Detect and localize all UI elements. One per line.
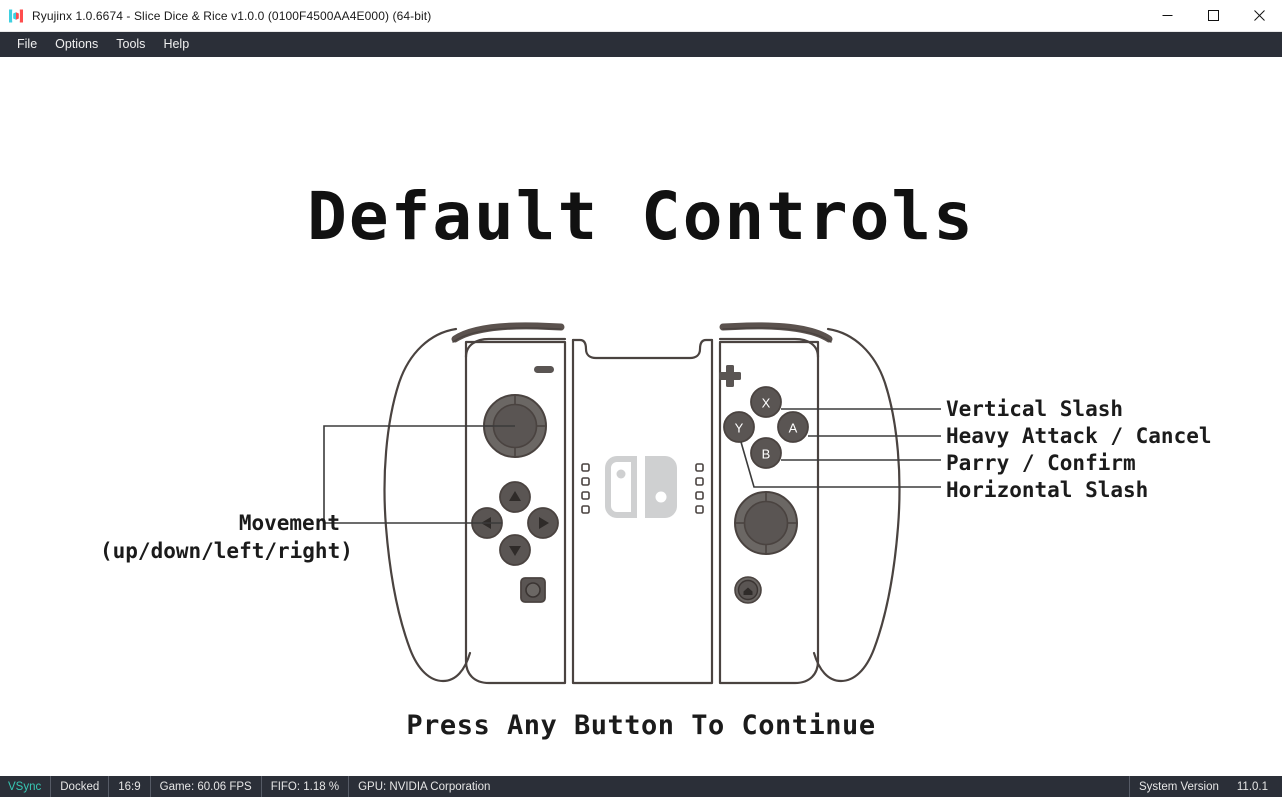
status-system-version-value: 11.0.1 [1228,776,1282,797]
status-bar: VSync Docked 16:9 Game: 60.06 FPS FIFO: … [0,776,1282,797]
minus-button [534,366,554,373]
right-grip-outline [814,329,899,681]
dpad [472,482,558,565]
minimize-icon [1162,10,1173,21]
title-bar-left: Ryujinx 1.0.6674 - Slice Dice & Rice v1.… [0,8,1144,24]
ryujinx-logo-icon [8,8,24,24]
status-bar-right: System Version 11.0.1 [1129,776,1282,797]
leader-line-stick [324,426,515,523]
left-joycon-top-edge [466,339,565,357]
right-shoulder-button [723,326,829,339]
left-shoulder-button [455,326,561,339]
right-speaker-grille [696,464,703,513]
close-icon [1254,10,1265,21]
status-fifo: FIFO: 1.18 % [262,776,349,797]
left-analog-stick [484,395,546,457]
right-joycon-body [720,342,818,683]
ryujinx-window: Ryujinx 1.0.6674 - Slice Dice & Rice v1.… [0,0,1282,797]
menu-item-options[interactable]: Options [46,35,107,54]
window-title: Ryujinx 1.0.6674 - Slice Dice & Rice v1.… [32,9,431,23]
button-b: B [751,438,781,468]
status-vsync[interactable]: VSync [0,776,51,797]
dpad-down-button [500,535,530,565]
left-speaker-grille [582,464,589,513]
close-button[interactable] [1236,0,1282,31]
plus-button [719,365,741,387]
footer-prompt: Press Any Button To Continue [0,712,1282,739]
leader-lines [324,409,941,523]
right-joycon-top-edge [720,339,818,357]
right-shoulder-outline [723,328,831,342]
callout-horizontal-slash: Horizontal Slash [946,477,1148,503]
callout-movement: Movement (up/down/left/right) [100,509,340,565]
minimize-button[interactable] [1144,0,1190,31]
button-y: Y [724,412,754,442]
console-body [573,340,712,683]
home-button [735,577,761,603]
dpad-left-button [472,508,502,538]
callout-movement-title: Movement [100,509,340,537]
callout-movement-detail: (up/down/left/right) [100,537,340,565]
left-grip-outline [385,329,470,681]
right-analog-stick [735,492,797,554]
dpad-right-button [528,508,558,538]
button-b-label: B [762,447,771,462]
callout-heavy-attack: Heavy Attack / Cancel [946,423,1212,449]
status-system-version-label: System Version [1129,776,1228,797]
status-aspect-ratio[interactable]: 16:9 [109,776,150,797]
menu-bar: File Options Tools Help [0,32,1282,57]
callout-vertical-slash: Vertical Slash [946,396,1123,422]
game-render-surface[interactable]: Default Controls [0,57,1282,776]
button-a: A [778,412,808,442]
screen-title: Default Controls [0,184,1282,250]
button-x: X [751,387,781,417]
maximize-button[interactable] [1190,0,1236,31]
left-joycon-body [466,342,565,683]
nintendo-switch-logo-icon [605,456,677,518]
capture-button [521,578,545,602]
leader-line-y [741,442,941,487]
status-bar-left: VSync Docked 16:9 Game: 60.06 FPS FIFO: … [0,776,499,797]
left-shoulder-outline [453,328,561,342]
window-controls [1144,0,1282,31]
face-buttons: X Y A B [724,387,808,468]
menu-item-file[interactable]: File [8,35,46,54]
dpad-up-button [500,482,530,512]
menu-item-tools[interactable]: Tools [107,35,154,54]
title-bar: Ryujinx 1.0.6674 - Slice Dice & Rice v1.… [0,0,1282,32]
maximize-icon [1208,10,1219,21]
button-y-label: Y [735,421,744,436]
status-dock-mode[interactable]: Docked [51,776,109,797]
status-fps: Game: 60.06 FPS [151,776,262,797]
button-x-label: X [762,396,771,411]
status-gpu: GPU: NVIDIA Corporation [349,776,499,797]
console-top-notch [573,340,712,358]
button-a-label: A [789,421,798,436]
callout-parry-confirm: Parry / Confirm [946,450,1136,476]
menu-item-help[interactable]: Help [154,35,198,54]
